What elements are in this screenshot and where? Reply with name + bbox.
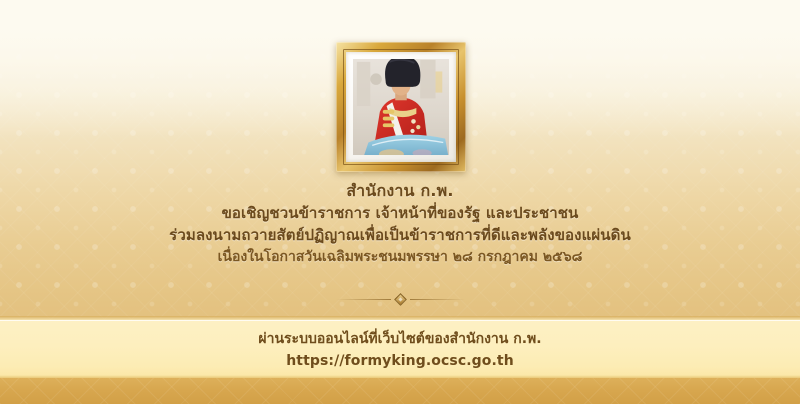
gold-footer-band (0, 378, 800, 404)
diamond-icon (394, 293, 407, 306)
footer-url-link[interactable]: https://formyking.ocsc.go.th (0, 350, 800, 372)
divider-rule-left (336, 299, 391, 300)
headline-line-2: ขอเชิญชวนข้าราชการ เจ้าหน้าที่ของรัฐ และ… (0, 202, 800, 224)
headline-line-3: ร่วมลงนามถวายสัตย์ปฏิญาณเพื่อเป็นข้าราชก… (0, 224, 800, 246)
headline-line-1: สำนักงาน ก.พ. (0, 180, 800, 202)
footer-block: ผ่านระบบออนไลน์ที่เว็บไซต์ของสำนักงาน ก.… (0, 328, 800, 372)
poster-canvas: สำนักงาน ก.พ. ขอเชิญชวนข้าราชการ เจ้าหน้… (0, 0, 800, 404)
royal-portrait-frame (336, 42, 466, 172)
royal-portrait-photo (353, 59, 449, 155)
headline-block: สำนักงาน ก.พ. ขอเชิญชวนข้าราชการ เจ้าหน้… (0, 180, 800, 268)
headline-line-4-occasion: เนื่องในโอกาสวันเฉลิมพระชนมพรรษา ๒๘ กรกฎ… (0, 246, 800, 268)
ornament-divider (0, 292, 800, 306)
footer-instruction: ผ่านระบบออนไลน์ที่เว็บไซต์ของสำนักงาน ก.… (0, 328, 800, 350)
divider-rule-right (410, 299, 465, 300)
gold-band-motif (0, 378, 800, 404)
